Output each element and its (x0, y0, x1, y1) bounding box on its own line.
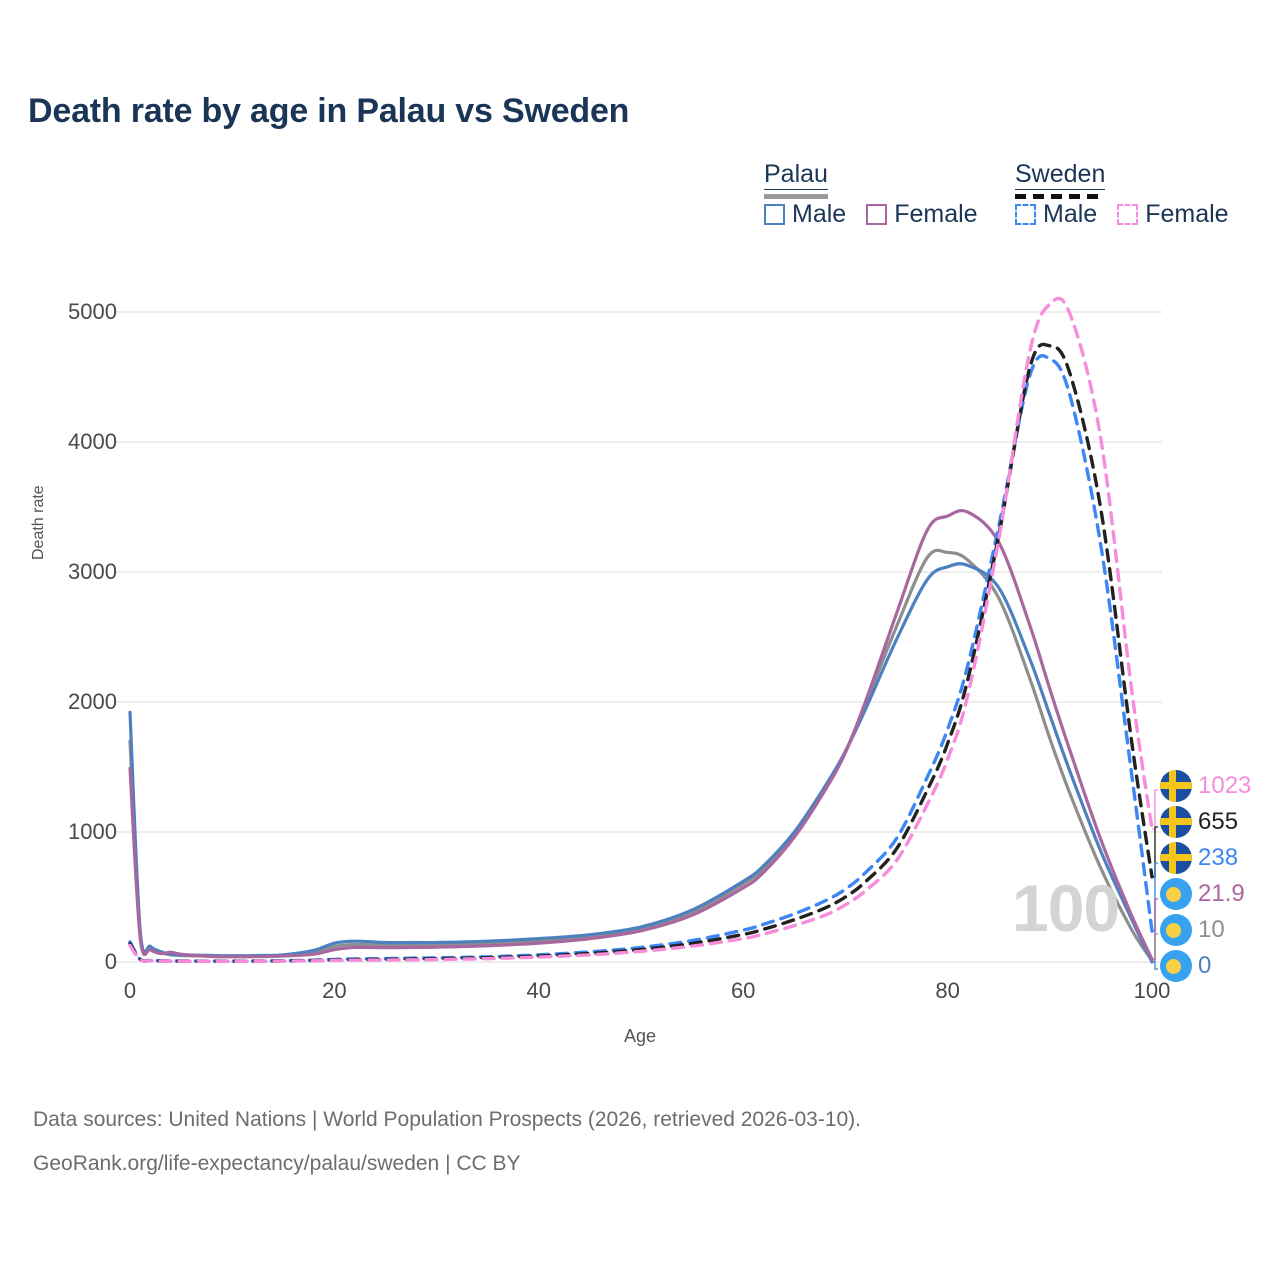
flag-icon-sweden (1160, 806, 1192, 838)
series-end-labels: 102365523821.9100 (1160, 768, 1280, 984)
end-label-value: 0 (1198, 954, 1211, 978)
series-line-palau-total (130, 550, 1152, 960)
end-label-21-9[interactable]: 21.9 (1160, 876, 1280, 912)
end-label-1023[interactable]: 1023 (1160, 768, 1280, 804)
end-label-value: 238 (1198, 846, 1238, 870)
x-tick-20: 20 (322, 978, 346, 1004)
x-tick-80: 80 (935, 978, 959, 1004)
end-label-655[interactable]: 655 (1160, 804, 1280, 840)
end-label-value: 21.9 (1198, 882, 1245, 906)
flag-icon-palau (1160, 914, 1192, 946)
end-label-value: 655 (1198, 810, 1238, 834)
x-axis-title: Age (0, 1026, 1280, 1047)
chart-canvas: Death rate by age in Palau vs Sweden Pal… (0, 0, 1280, 1280)
footer-line-1: Data sources: United Nations | World Pop… (33, 1108, 861, 1132)
flag-icon-palau (1160, 878, 1192, 910)
plot-area: 100 Death rate Age 010002000300040005000… (0, 0, 1280, 1280)
plot-svg (0, 0, 1280, 1280)
flag-icon-palau (1160, 950, 1192, 982)
series-line-palau-female (130, 511, 1152, 960)
watermark-age-100: 100 (1012, 870, 1119, 946)
end-label-value: 1023 (1198, 774, 1251, 798)
end-label-10[interactable]: 10 (1160, 912, 1280, 948)
end-label-238[interactable]: 238 (1160, 840, 1280, 876)
x-tick-40: 40 (527, 978, 551, 1004)
footer-line-2: GeoRank.org/life-expectancy/palau/sweden… (33, 1152, 521, 1176)
y-axis-title: Death rate (30, 485, 48, 560)
end-label-value: 10 (1198, 918, 1225, 942)
flag-icon-sweden (1160, 770, 1192, 802)
series-line-sweden-total (130, 344, 1152, 961)
series-line-sweden-female (130, 298, 1152, 961)
x-tick-60: 60 (731, 978, 755, 1004)
flag-icon-sweden (1160, 842, 1192, 874)
x-tick-0: 0 (124, 978, 136, 1004)
end-label-0[interactable]: 0 (1160, 948, 1280, 984)
series-line-palau-male (130, 564, 1152, 962)
series-line-sweden-male (130, 356, 1152, 961)
